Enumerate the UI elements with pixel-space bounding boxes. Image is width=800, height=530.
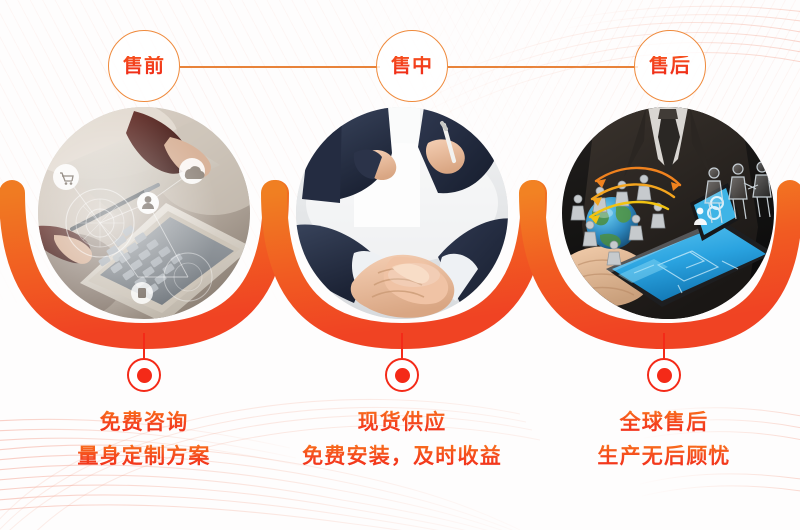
caption-during-sale: 现货供应 免费安装，及时收益 [258, 408, 546, 473]
caption-line2-after-sale: 生产无后顾忧 [530, 442, 798, 472]
infographic-canvas: 售前 售中 售后 [0, 0, 800, 530]
connector-line-1 [180, 66, 380, 68]
caption-line1-after-sale: 全球售后 [530, 408, 798, 438]
caption-line2-pre-sale: 量身定制方案 [0, 442, 288, 472]
red-dot-marker-during-sale[interactable] [385, 358, 419, 392]
photo-circle-pre-sale [38, 107, 250, 319]
stage-badge-label-pre-sale: 售前 [123, 56, 165, 76]
stage-badge-during-sale[interactable]: 售中 [376, 30, 448, 102]
photo-circle-after-sale [562, 107, 774, 319]
dot-center-pre-sale [137, 368, 152, 383]
photo-business-handshake [296, 107, 508, 319]
caption-pre-sale: 免费咨询 量身定制方案 [0, 408, 288, 473]
caption-line1-during-sale: 现货供应 [258, 408, 546, 438]
photo-tablet-network-hologram [562, 107, 774, 319]
connector-line-2 [448, 66, 638, 68]
dot-center-after-sale [657, 368, 672, 383]
stage-badge-row: 售前 售中 售后 [0, 0, 800, 120]
dot-center-during-sale [395, 368, 410, 383]
stage-badge-label-after-sale: 售后 [649, 56, 691, 76]
stage-badge-pre-sale[interactable]: 售前 [108, 30, 180, 102]
caption-after-sale: 全球售后 生产无后顾忧 [530, 408, 798, 473]
stage-badge-label-during-sale: 售中 [391, 56, 433, 76]
caption-line1-pre-sale: 免费咨询 [0, 408, 288, 438]
caption-line2-during-sale: 免费安装，及时收益 [258, 442, 546, 472]
photo-laptop-typing [38, 107, 250, 319]
red-dot-marker-after-sale[interactable] [647, 358, 681, 392]
photo-circle-during-sale [296, 107, 508, 319]
red-dot-marker-pre-sale[interactable] [127, 358, 161, 392]
stage-badge-after-sale[interactable]: 售后 [634, 30, 706, 102]
